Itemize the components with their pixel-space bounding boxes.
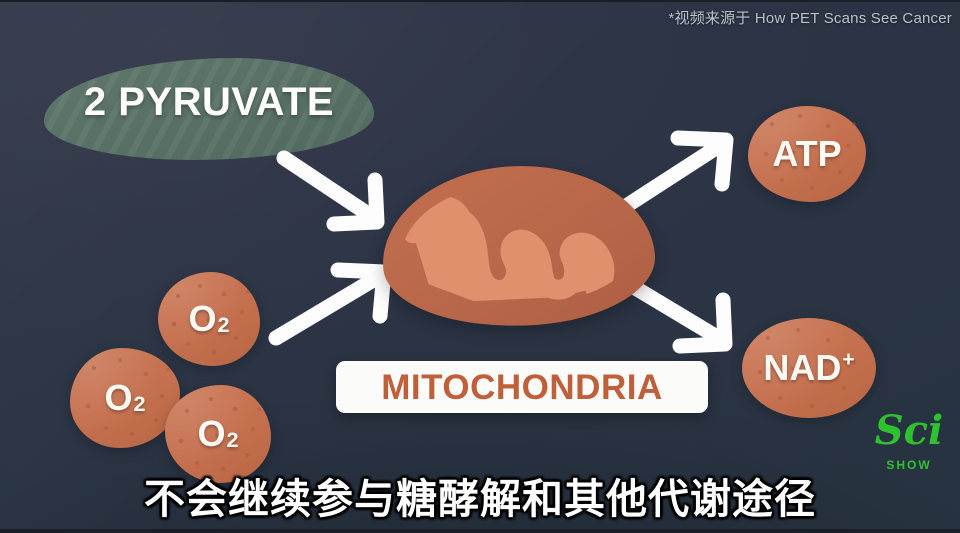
mitochondria-caption-text: MITOCHONDRIA <box>381 370 662 405</box>
pyruvate-label: 2 PYRUVATE <box>44 80 374 125</box>
nad-label: NAD+ <box>742 318 876 418</box>
scishow-sci-wordmark: Sci <box>866 411 952 451</box>
letterbox-bar-top <box>0 0 960 2</box>
atp-label: ATP <box>748 106 866 202</box>
oxygen-label: O2 <box>70 348 180 448</box>
oxygen-subscript: 2 <box>134 391 146 417</box>
video-frame: *视频来源于 How PET Scans See Cancer 2 PYRUVA… <box>0 0 960 533</box>
mitochondria-matrix <box>396 174 636 314</box>
subtitle-text: 不会继续参与糖酵解和其他代谢途径 <box>0 465 960 525</box>
oxygen-subscript: 2 <box>227 427 239 453</box>
oxygen-symbol: O <box>188 298 216 340</box>
nad-symbol: NAD <box>763 347 841 389</box>
atp-molecule: ATP <box>748 106 866 202</box>
oxygen-symbol: O <box>197 413 225 455</box>
letterbox-bar-bottom <box>0 529 960 533</box>
nad-molecule: NAD+ <box>742 318 876 418</box>
oxygen-subscript: 2 <box>218 312 230 338</box>
oxygen-symbol: O <box>104 377 132 419</box>
source-credit-text: *视频来源于 How PET Scans See Cancer <box>668 7 952 28</box>
nad-superscript: + <box>842 348 854 372</box>
mitochondria-cristae <box>396 174 636 314</box>
oxygen-molecule: O2 <box>70 348 180 448</box>
mitochondria-figure <box>382 166 654 326</box>
mitochondria-caption-box: MITOCHONDRIA <box>336 361 708 413</box>
pyruvate-blob: 2 PYRUVATE <box>44 58 374 160</box>
